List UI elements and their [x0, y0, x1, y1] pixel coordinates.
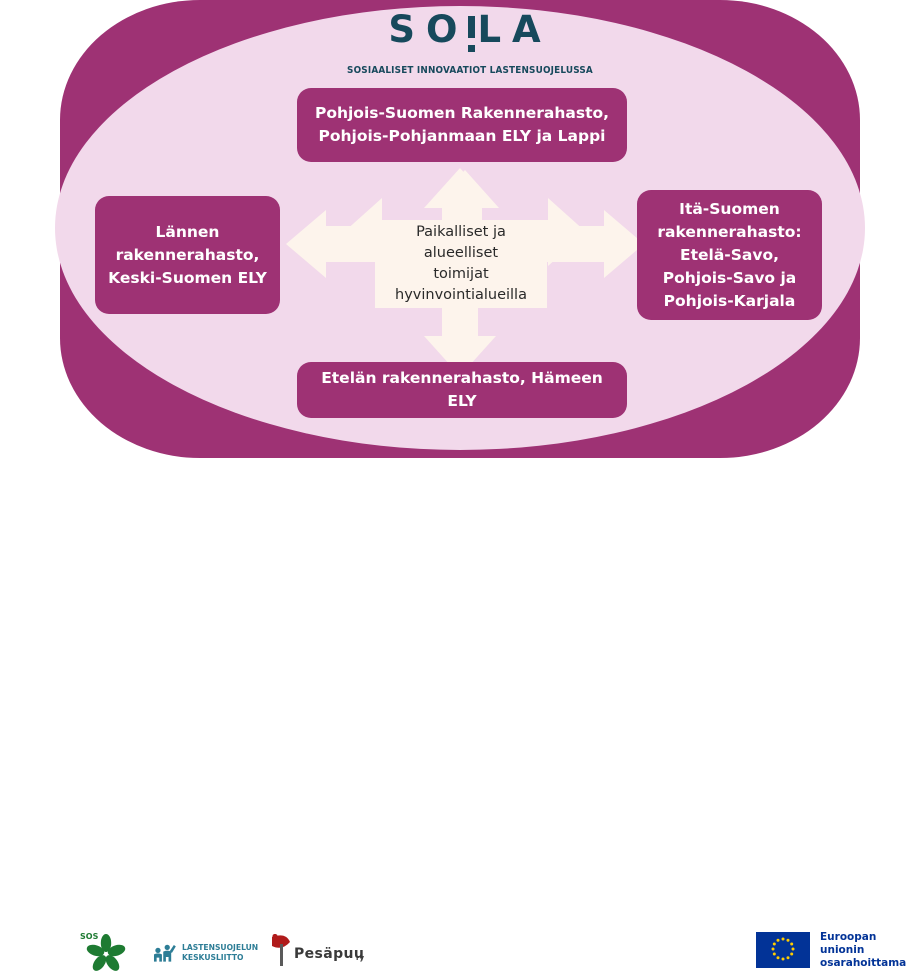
center-node-label: Paikalliset ja alueelliset toimijat hyvi…	[395, 222, 527, 306]
pesapuu-label: Pesäpuu	[294, 946, 364, 962]
node-west-finland[interactable]: Lännen rakennerahasto, Keski-Suomen ELY	[95, 196, 280, 314]
node-east-finland[interactable]: Itä-Suomen rakennerahasto: Etelä-Savo, P…	[637, 190, 822, 320]
eu-cofunded-label: Euroopan unionin osarahoittama	[820, 931, 920, 970]
node-south-finland[interactable]: Etelän rakennerahasto, Hämeen ELY	[297, 362, 627, 418]
soila-logo: SOLA SOSIAALISET INNOVAATIOT LASTENSUOJE…	[330, 8, 610, 77]
pesapuu-suffix: ry	[356, 954, 364, 962]
node-north-finland-label: Pohjois-Suomen Rakennerahasto, Pohjois-P…	[305, 102, 619, 148]
center-node-local-regional-actors[interactable]: Paikalliset ja alueelliset toimijat hyvi…	[375, 220, 547, 308]
soila-wordmark-post: LA	[477, 8, 551, 51]
node-south-finland-label: Etelän rakennerahasto, Hämeen ELY	[311, 367, 613, 413]
node-north-finland[interactable]: Pohjois-Suomen Rakennerahasto, Pohjois-P…	[297, 88, 627, 162]
sos-flower-logo: SOS	[78, 928, 140, 972]
node-west-finland-label: Lännen rakennerahasto, Keski-Suomen ELY	[98, 221, 277, 290]
sos-logo-mark: SOS	[80, 932, 99, 941]
two-people-icon	[152, 938, 176, 968]
soila-wordmark-pre: SO	[388, 8, 468, 51]
lastensuojelun-keskusliitto-label: LASTENSUOJELUN KESKUSLIITTO	[182, 943, 258, 963]
pesapuu-logo: Pesäpuu ry	[268, 934, 368, 970]
node-east-finland-label: Itä-Suomen rakennerahasto: Etelä-Savo, P…	[647, 198, 811, 313]
lastensuojelun-keskusliitto-logo: LASTENSUOJELUN KESKUSLIITTO	[152, 936, 260, 970]
footer-logo-bar: SOS LASTENSUOJEL	[0, 458, 920, 518]
infographic-canvas: SOLA SOSIAALISET INNOVAATIOT LASTENSUOJE…	[0, 0, 920, 518]
eu-cofunded-logo: Euroopan unionin osarahoittama	[756, 932, 920, 968]
soila-wordmark: SOLA	[388, 8, 551, 52]
eu-flag-icon	[756, 932, 810, 968]
soila-subtitle: SOSIAALISET INNOVAATIOT LASTENSUOJELUSSA	[340, 64, 600, 77]
